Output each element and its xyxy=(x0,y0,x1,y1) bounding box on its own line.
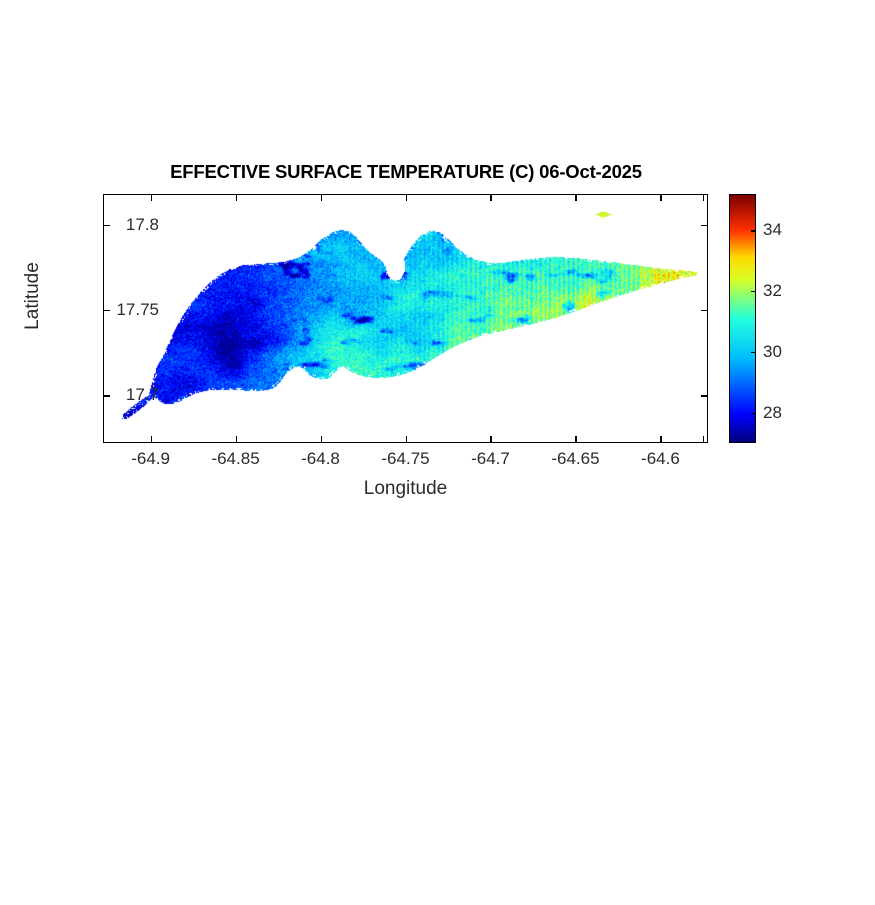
colorbar-tick-mark xyxy=(751,291,756,292)
x-tick-mark xyxy=(406,436,407,443)
x-tick-mark xyxy=(151,436,152,443)
x-tick-mark-top xyxy=(660,194,661,201)
y-tick-mark-right xyxy=(701,310,708,311)
x-tick-label: -64.65 xyxy=(551,449,599,469)
colorbar-tick-mark xyxy=(751,352,756,353)
x-tick-mark-top xyxy=(151,194,152,201)
colorbar-tick-label: 28 xyxy=(763,403,782,423)
x-tick-label: -64.8 xyxy=(301,449,340,469)
x-tick-mark xyxy=(575,436,576,443)
colorbar-gradient xyxy=(730,195,755,442)
colorbar-tick-label: 30 xyxy=(763,342,782,362)
x-tick-label: -64.85 xyxy=(211,449,259,469)
figure-canvas: EFFECTIVE SURFACE TEMPERATURE (C) 06-Oct… xyxy=(0,0,875,656)
x-tick-label: -64.9 xyxy=(131,449,170,469)
y-tick-label: 17.75 xyxy=(116,300,159,320)
colorbar-tick-label: 32 xyxy=(763,281,782,301)
x-tick-mark xyxy=(703,436,704,443)
x-axis-title: Longitude xyxy=(103,478,708,500)
x-tick-mark xyxy=(236,436,237,443)
x-tick-label: -64.75 xyxy=(381,449,429,469)
colorbar-tick-mark xyxy=(751,413,756,414)
x-tick-mark xyxy=(490,436,491,443)
x-tick-mark xyxy=(660,436,661,443)
y-tick-mark xyxy=(103,225,110,226)
colorbar-tick-mark xyxy=(751,230,756,231)
x-tick-mark xyxy=(321,436,322,443)
x-tick-label: -64.7 xyxy=(471,449,510,469)
temperature-heatmap xyxy=(104,195,708,443)
y-tick-mark xyxy=(103,395,110,396)
colorbar-tick-label: 34 xyxy=(763,220,782,240)
y-tick-mark xyxy=(103,310,110,311)
y-tick-mark-right xyxy=(701,395,708,396)
map-axes[interactable] xyxy=(103,194,708,443)
page-title: EFFECTIVE SURFACE TEMPERATURE (C) 06-Oct… xyxy=(103,161,709,183)
x-tick-mark-top xyxy=(575,194,576,201)
x-tick-mark-top xyxy=(490,194,491,201)
x-tick-mark-top xyxy=(406,194,407,201)
y-tick-mark-right xyxy=(701,225,708,226)
y-tick-label: 17.7 xyxy=(126,385,159,405)
x-tick-label: -64.6 xyxy=(641,449,680,469)
x-tick-mark-top xyxy=(321,194,322,201)
y-axis-title: Latitude xyxy=(22,241,44,351)
x-tick-mark-top xyxy=(703,194,704,201)
y-tick-label: 17.8 xyxy=(126,215,159,235)
x-tick-mark-top xyxy=(236,194,237,201)
